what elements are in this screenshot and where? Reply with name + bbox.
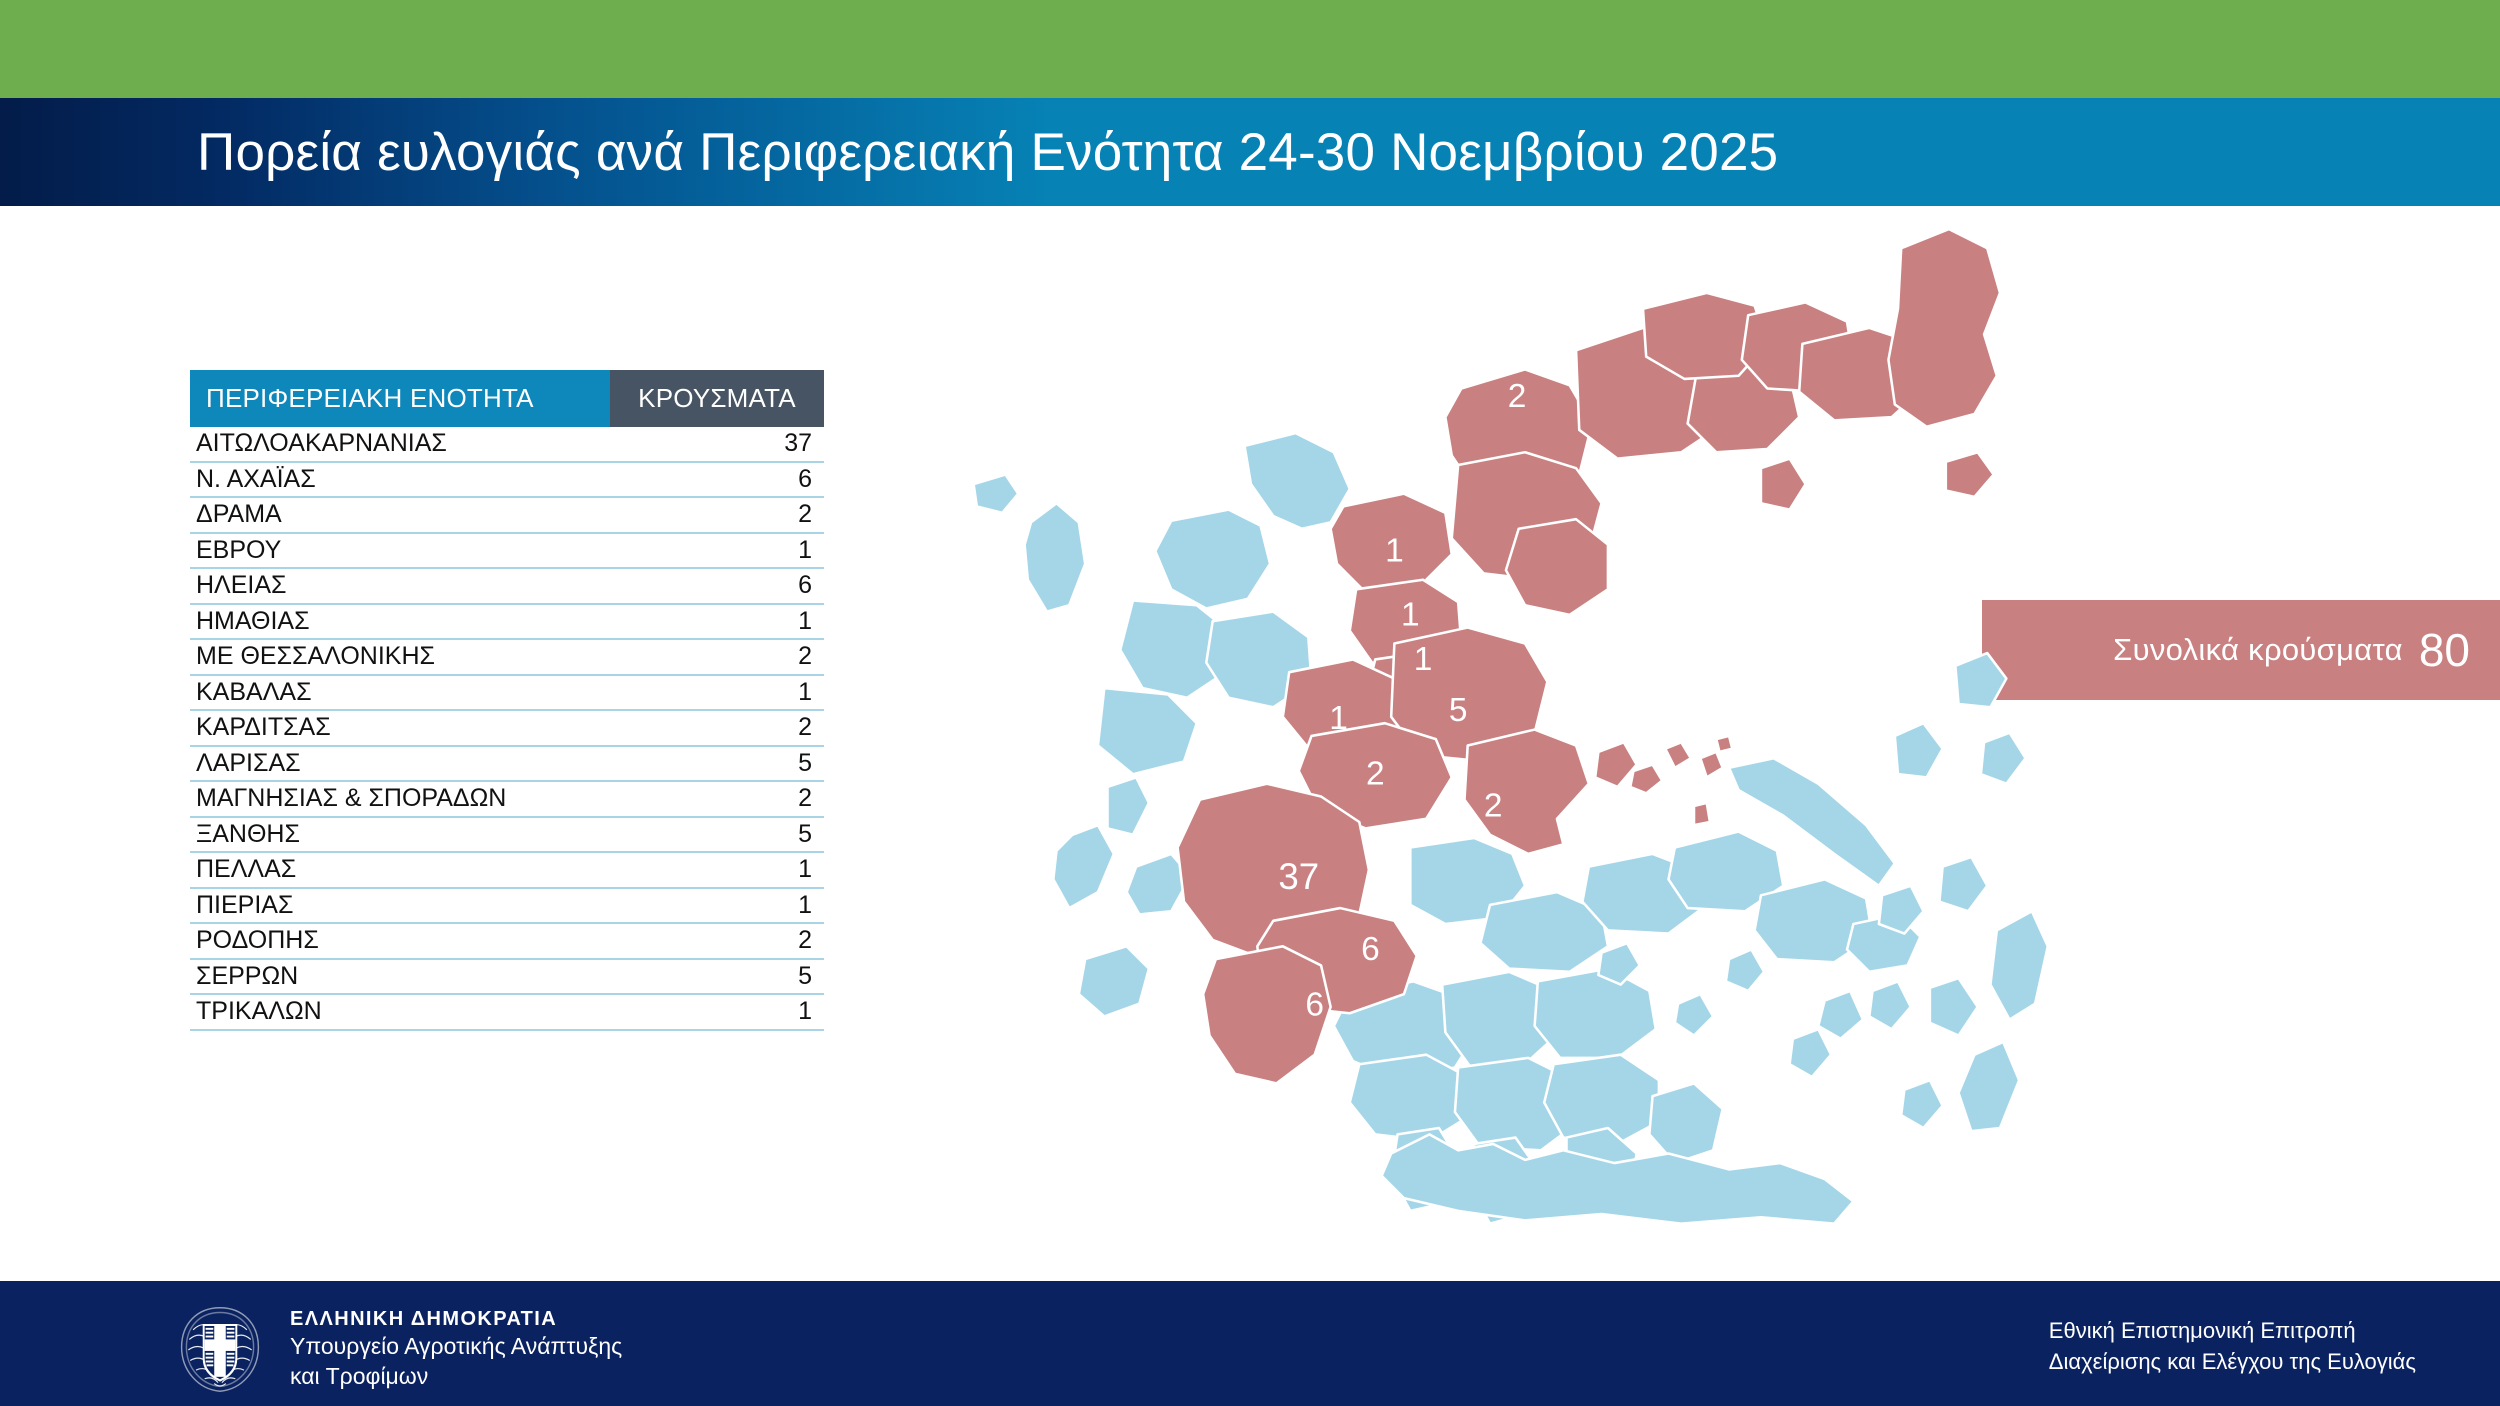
table-row: ΔΡΑΜΑ2 [190, 497, 824, 533]
table-row: Ν. ΑΧΑΪΑΣ6 [190, 462, 824, 498]
greek-coat-of-arms-icon [172, 1301, 268, 1397]
cell-cases: 5 [610, 959, 824, 995]
ministry-text: ΕΛΛΗΝΙΚΗ ΔΗΜΟΚΡΑΤΙΑ Υπουργείο Αγροτικής … [290, 1307, 622, 1391]
table-row: ΗΛΕΙΑΣ6 [190, 568, 824, 604]
cell-cases: 1 [610, 604, 824, 640]
cell-cases: 5 [610, 746, 824, 782]
cell-cases: 2 [610, 639, 824, 675]
map-label-achaias: 6 [1361, 931, 1380, 968]
cell-cases: 6 [610, 568, 824, 604]
map-label-ileias: 6 [1305, 987, 1324, 1024]
map-label-aitoloakarn: 37 [1278, 856, 1319, 897]
committee-text: Εθνική Επιστημονική Επιτροπή Διαχείρισης… [2049, 1315, 2416, 1377]
total-cases-label: Συνολικά κρούσματα [2113, 632, 2403, 668]
table-row: ΕΒΡΟΥ1 [190, 533, 824, 569]
table-row: ΚΑΡΔΙΤΣΑΣ2 [190, 710, 824, 746]
cell-cases: 5 [610, 817, 824, 853]
map-label-pellas: 1 [1385, 533, 1404, 570]
cell-regional-unit: ΗΛΕΙΑΣ [190, 568, 610, 604]
cell-regional-unit: ΛΑΡΙΣΑΣ [190, 746, 610, 782]
ministry-line-2: Υπουργείο Αγροτικής Ανάπτυξης [290, 1333, 622, 1359]
map-label-larisas: 5 [1449, 692, 1468, 729]
green-accent-strip [0, 0, 2500, 98]
regional-units-table: ΠΕΡΙΦΕΡΕΙΑΚΗ ΕΝΟΤΗΤΑ ΚΡΟΥΣΜΑΤΑ ΑΙΤΩΛΟΑΚΑ… [190, 370, 824, 1031]
cell-regional-unit: Ν. ΑΧΑΪΑΣ [190, 462, 610, 498]
cell-cases: 2 [610, 781, 824, 817]
map-label-thessalonikis: 2 [1508, 378, 1527, 415]
column-header-regional-unit: ΠΕΡΙΦΕΡΕΙΑΚΗ ΕΝΟΤΗΤΑ [190, 370, 610, 427]
cell-cases: 2 [610, 923, 824, 959]
map-label-rodopis: 2 [1768, 210, 1787, 227]
page-title: Πορεία ευλογιάς ανά Περιφερειακή Ενότητα… [197, 126, 1778, 179]
map-label-trikalon: 1 [1329, 700, 1348, 737]
cell-cases: 1 [610, 852, 824, 888]
cell-regional-unit: ΚΑΡΔΙΤΣΑΣ [190, 710, 610, 746]
map-label-evrou: 1 [1844, 210, 1863, 219]
map-label-magnisias: 2 [1484, 788, 1503, 825]
table-row: ΣΕΡΡΩΝ5 [190, 959, 824, 995]
cell-regional-unit: ΚΑΒΑΛΑΣ [190, 675, 610, 711]
cell-regional-unit: ΗΜΑΘΙΑΣ [190, 604, 610, 640]
table-row: ΛΑΡΙΣΑΣ5 [190, 746, 824, 782]
total-cases-value: 80 [2419, 627, 2470, 673]
table-row: ΚΑΒΑΛΑΣ1 [190, 675, 824, 711]
cell-regional-unit: ΑΙΤΩΛΟΑΚΑΡΝΑΝΙΑΣ [190, 427, 610, 462]
map-label-kilkis: 2 [1521, 246, 1540, 283]
table-row: ΜΕ ΘΕΣΣΑΛΟΝΙΚΗΣ2 [190, 639, 824, 675]
table-body: ΑΙΤΩΛΟΑΚΑΡΝΑΝΙΑΣ37Ν. ΑΧΑΪΑΣ6ΔΡΑΜΑ2ΕΒΡΟΥ1… [190, 427, 824, 1030]
map-label-karditsas: 2 [1366, 756, 1385, 793]
cell-cases: 1 [610, 533, 824, 569]
table-row: ΞΑΝΘΗΣ5 [190, 817, 824, 853]
cell-regional-unit: ΠΕΛΛΑΣ [190, 852, 610, 888]
map-label-imathias: 1 [1401, 596, 1420, 633]
cell-cases: 1 [610, 888, 824, 924]
total-cases-badge: Συνολικά κρούσματα 80 [1982, 600, 2500, 700]
table-row: ΗΜΑΘΙΑΣ1 [190, 604, 824, 640]
cell-regional-unit: ΤΡΙΚΑΛΩΝ [190, 994, 610, 1030]
committee-line-2: Διαχείρισης και Ελέγχου της Ευλογιάς [2049, 1349, 2416, 1374]
table-row: ΜΑΓΝΗΣΙΑΣ & ΣΠΟΡΑΔΩΝ2 [190, 781, 824, 817]
cell-cases: 1 [610, 994, 824, 1030]
cell-cases: 2 [610, 497, 824, 533]
ministry-line-3: και Τροφίμων [290, 1363, 428, 1389]
table-row: ΠΕΛΛΑΣ1 [190, 852, 824, 888]
ministry-line-1: ΕΛΛΗΝΙΚΗ ΔΗΜΟΚΡΑΤΙΑ [290, 1308, 557, 1330]
cell-regional-unit: ΔΡΑΜΑ [190, 497, 610, 533]
table-row: ΤΡΙΚΑΛΩΝ1 [190, 994, 824, 1030]
title-bar: Πορεία ευλογιάς ανά Περιφερειακή Ενότητα… [0, 98, 2500, 206]
map-label-serron: 5 [1544, 210, 1563, 227]
footer-branding: ΕΛΛΗΝΙΚΗ ΔΗΜΟΚΡΑΤΙΑ Υπουργείο Αγροτικής … [172, 1301, 622, 1397]
table-row: ΡΟΔΟΠΗΣ2 [190, 923, 824, 959]
table-header-row: ΠΕΡΙΦΕΡΕΙΑΚΗ ΕΝΟΤΗΤΑ ΚΡΟΥΣΜΑΤΑ [190, 370, 824, 427]
cell-regional-unit: ΠΙΕΡΙΑΣ [190, 888, 610, 924]
column-header-cases: ΚΡΟΥΣΜΑΤΑ [610, 370, 824, 427]
cell-regional-unit: ΞΑΝΘΗΣ [190, 817, 610, 853]
table-row: ΑΙΤΩΛΟΑΚΑΡΝΑΝΙΑΣ37 [190, 427, 824, 462]
table-row: ΠΙΕΡΙΑΣ1 [190, 888, 824, 924]
cell-regional-unit: ΡΟΔΟΠΗΣ [190, 923, 610, 959]
cell-regional-unit: ΜΕ ΘΕΣΣΑΛΟΝΙΚΗΣ [190, 639, 610, 675]
cell-cases: 37 [610, 427, 824, 462]
cell-regional-unit: ΕΒΡΟΥ [190, 533, 610, 569]
slide-root: Πορεία ευλογιάς ανά Περιφερειακή Ενότητα… [0, 0, 2500, 1406]
cell-cases: 6 [610, 462, 824, 498]
cell-cases: 1 [610, 675, 824, 711]
cell-regional-unit: ΜΑΓΝΗΣΙΑΣ & ΣΠΟΡΑΔΩΝ [190, 781, 610, 817]
committee-line-1: Εθνική Επιστημονική Επιτροπή [2049, 1318, 2356, 1343]
cell-regional-unit: ΣΕΡΡΩΝ [190, 959, 610, 995]
greece-choropleth-map: 1152212521115223766 [930, 210, 2050, 1230]
cell-cases: 2 [610, 710, 824, 746]
map-label-pierias: 1 [1414, 641, 1433, 678]
footer-bar: ΕΛΛΗΝΙΚΗ ΔΗΜΟΚΡΑΤΙΑ Υπουργείο Αγροτικής … [0, 1281, 2500, 1406]
map-label-kavalas: 1 [1635, 210, 1654, 235]
